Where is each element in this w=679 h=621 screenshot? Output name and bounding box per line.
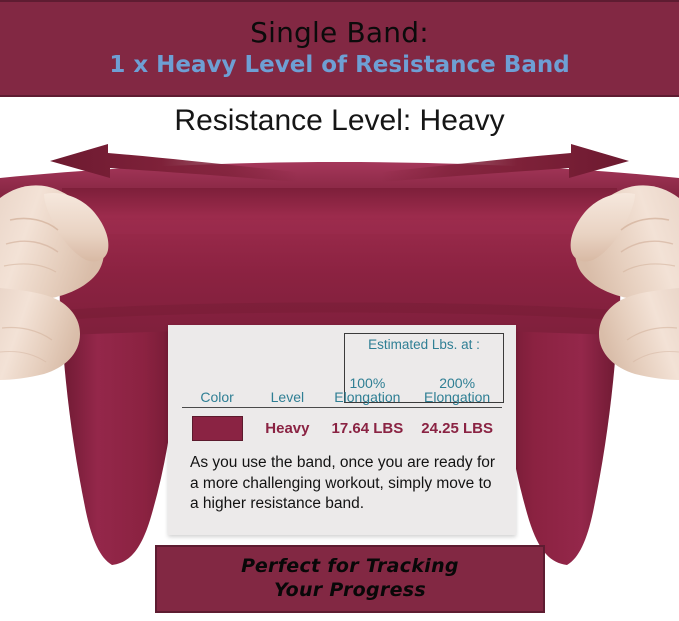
cell-lbs-100: 17.64 LBS — [323, 420, 413, 437]
table-row: Heavy 17.64 LBS 24.25 LBS — [168, 413, 516, 443]
resistance-level-caption: Resistance Level: Heavy — [0, 104, 679, 138]
table-header-row: Color Level 100% Elongation 200% Elongat… — [168, 365, 516, 405]
column-header-100-line1: 100% — [323, 376, 413, 391]
cell-level: Heavy — [252, 420, 322, 437]
estimated-lbs-group-header: Estimated Lbs. at : — [344, 337, 504, 352]
left-hand-gripping-band — [0, 168, 150, 393]
column-header-200-line2: Elongation — [412, 390, 502, 405]
usage-note: As you use the band, once you are ready … — [190, 453, 500, 515]
bottom-banner: Perfect for Tracking Your Progress — [155, 545, 545, 613]
product-infographic: Single Band: 1 x Heavy Level of Resistan… — [0, 0, 679, 621]
bottom-banner-line-2: Your Progress — [274, 579, 426, 603]
right-hand-gripping-band — [529, 168, 679, 393]
page-title: Single Band: — [250, 18, 429, 47]
specification-panel: Estimated Lbs. at : Color Level 100% Elo… — [168, 325, 516, 535]
column-header-100-elongation: 100% Elongation — [323, 376, 413, 405]
column-header-100-line2: Elongation — [323, 390, 413, 405]
page-subtitle: 1 x Heavy Level of Resistance Band — [109, 52, 569, 80]
column-header-200-line1: 200% — [412, 376, 502, 391]
arrow-right-icon — [381, 142, 631, 184]
column-header-200-elongation: 200% Elongation — [412, 376, 502, 405]
header-banner: Single Band: 1 x Heavy Level of Resistan… — [0, 0, 679, 97]
arrow-left-icon — [48, 142, 298, 184]
color-swatch-cell — [182, 416, 252, 441]
column-header-level: Level — [252, 390, 322, 405]
cell-lbs-200: 24.25 LBS — [412, 420, 502, 437]
table-header-divider — [182, 407, 502, 408]
column-header-color: Color — [182, 390, 252, 405]
band-color-swatch — [192, 416, 243, 441]
bottom-banner-line-1: Perfect for Tracking — [241, 555, 459, 579]
